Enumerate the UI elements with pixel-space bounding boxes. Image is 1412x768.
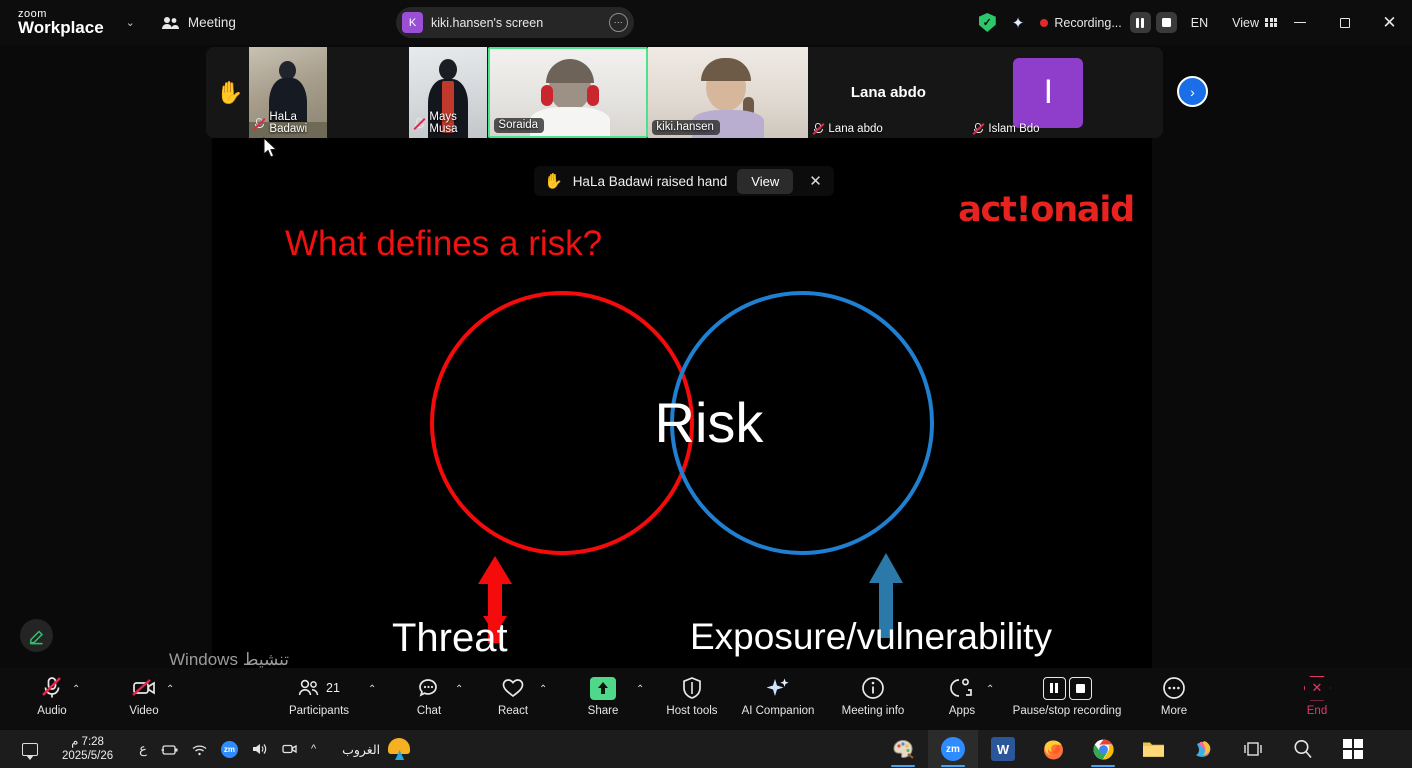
avatar-initial: I	[1013, 58, 1083, 128]
battery-icon[interactable]	[160, 743, 178, 756]
share-screen-active-icon	[590, 674, 616, 702]
weather-text: الغروب	[342, 742, 380, 757]
video-tile-lana-abdo[interactable]: Lana abdo Lana abdo	[808, 47, 968, 138]
recording-status[interactable]: Recording...	[1040, 16, 1121, 30]
participant-name: Islam Bdo	[988, 123, 1039, 135]
more-button[interactable]: More	[1141, 674, 1207, 717]
end-call-icon: ✕	[1304, 674, 1331, 702]
view-button[interactable]: View	[737, 169, 793, 194]
mic-muted-icon	[253, 117, 265, 130]
taskbar-app-file-explorer[interactable]	[1128, 730, 1178, 768]
participant-display-name: Lana abdo	[851, 84, 926, 101]
pencil-icon	[28, 627, 46, 645]
camera-icon[interactable]	[281, 742, 298, 756]
taskbar-app-copilot[interactable]	[1178, 730, 1228, 768]
more-icon	[1162, 674, 1186, 702]
participant-nametag: Mays Musa	[413, 111, 487, 135]
apps-label: Apps	[949, 705, 975, 717]
meeting-info-button[interactable]: Meeting info	[840, 674, 906, 717]
taskbar-start-button[interactable]	[1328, 730, 1378, 768]
volume-icon[interactable]	[251, 742, 268, 756]
people-icon	[298, 679, 320, 697]
meeting-tab-label: Meeting	[188, 15, 236, 30]
people-icon	[161, 16, 180, 30]
exposure-label: Exposure/vulnerability	[690, 616, 1052, 658]
stop-icon[interactable]	[1069, 677, 1092, 700]
taskbar-search-button[interactable]	[1278, 730, 1328, 768]
recording-controls	[1043, 674, 1092, 702]
pause-recording-button[interactable]	[1130, 12, 1151, 33]
recording-dot-icon	[1040, 19, 1048, 27]
zoom-meeting-window: zoom Workplace ⌄ Meeting K kiki.hansen's…	[0, 0, 1412, 768]
ime-language-indicator[interactable]: ع	[139, 741, 147, 757]
video-muted-icon	[131, 674, 157, 702]
stop-recording-button[interactable]	[1156, 12, 1177, 33]
mic-muted-icon	[972, 122, 984, 135]
mouse-cursor	[263, 137, 278, 159]
participant-nametag: Soraida	[494, 118, 544, 133]
recording-label: Recording...	[1054, 16, 1121, 30]
participant-video-strip: ✋ HaLa Badawi	[206, 47, 1163, 138]
shared-screen-content: act!onaid What defines a risk? Risk Thre…	[212, 138, 1152, 668]
sparkle-icon	[765, 674, 791, 702]
screen-share-indicator[interactable]: K kiki.hansen's screen ⋯	[396, 7, 634, 38]
chat-icon	[417, 674, 441, 702]
zoom-tray-icon[interactable]: zm	[221, 741, 238, 758]
video-options-chevron-icon[interactable]: ⌃	[166, 684, 174, 695]
wifi-icon[interactable]	[191, 743, 208, 756]
chat-label: Chat	[417, 705, 441, 717]
windows-taskbar: 7:28 م 2025/5/26 ع zm	[0, 730, 1412, 768]
video-button[interactable]: Video	[111, 674, 177, 717]
participant-name: Lana abdo	[828, 123, 882, 135]
share-label: Share	[588, 705, 619, 717]
chat-button[interactable]: Chat	[396, 674, 462, 717]
participants-icon-group: 21	[298, 674, 340, 702]
clock-date: 2025/5/26	[62, 749, 113, 763]
paint-icon	[891, 737, 916, 762]
ai-companion-label: AI Companion	[742, 705, 815, 717]
threat-label: Threat	[392, 616, 508, 661]
minimize-button[interactable]	[1277, 0, 1322, 45]
ai-companion-sparkle-icon[interactable]: ✦	[1012, 14, 1025, 32]
grid-view-icon	[1265, 18, 1277, 28]
participants-count: 21	[326, 681, 340, 695]
end-meeting-button[interactable]: ✕ End	[1284, 674, 1350, 717]
apps-options-chevron-icon[interactable]: ⌃	[986, 684, 994, 695]
pause-icon[interactable]	[1043, 677, 1066, 700]
logo-line-2: Workplace	[18, 19, 104, 36]
risk-label: Risk	[649, 390, 769, 455]
taskbar-apps: zm W	[878, 730, 1378, 768]
maximize-restore-button[interactable]	[1322, 0, 1367, 45]
react-options-chevron-icon[interactable]: ⌃	[455, 684, 463, 695]
host-tools-button[interactable]: Host tools	[659, 674, 725, 717]
zoom-icon: zm	[941, 737, 965, 761]
video-label: Video	[129, 705, 158, 717]
overflow-chevron-icon[interactable]: ^	[311, 743, 316, 755]
weather-widget[interactable]: الغروب	[342, 738, 410, 760]
more-options-icon[interactable]: ⋯	[609, 13, 628, 32]
participant-name: Soraida	[498, 119, 538, 131]
copilot-icon	[1191, 737, 1216, 762]
video-tile-hala-badawi[interactable]: HaLa Badawi	[249, 47, 327, 138]
pause-stop-recording-button[interactable]: Pause/stop recording	[1000, 674, 1134, 717]
participants-options-chevron-icon[interactable]: ⌃	[368, 684, 376, 695]
folder-icon	[1141, 738, 1166, 760]
title-bar: zoom Workplace ⌄ Meeting K kiki.hansen's…	[0, 0, 1412, 45]
participants-label: Participants	[289, 705, 349, 717]
share-title: kiki.hansen's screen	[431, 16, 609, 30]
taskbar-app-chrome[interactable]	[1078, 730, 1128, 768]
next-page-arrow-icon[interactable]: ›	[1177, 76, 1208, 107]
apps-icon	[950, 674, 974, 702]
chevron-down-icon[interactable]: ⌄	[126, 16, 135, 29]
react-button[interactable]: React	[480, 674, 546, 717]
video-tile-mays-musa[interactable]: Mays Musa	[409, 47, 487, 138]
share-button[interactable]: Share	[570, 674, 636, 717]
participant-nametag: Lana abdo	[812, 122, 882, 135]
meeting-tab[interactable]: Meeting	[161, 15, 236, 30]
shield-icon	[681, 674, 703, 702]
heart-icon	[501, 674, 525, 702]
participant-name: HaLa Badawi	[269, 111, 327, 135]
participant-nametag: kiki.hansen	[652, 120, 720, 135]
windows-logo-icon	[1343, 739, 1363, 759]
search-icon	[1292, 738, 1314, 760]
participants-button[interactable]: 21 Participants	[286, 674, 352, 717]
firefox-icon	[1041, 737, 1066, 762]
zoom-workplace-logo: zoom Workplace	[18, 9, 104, 36]
task-view-icon	[1242, 739, 1264, 759]
chrome-icon	[1091, 737, 1116, 762]
apps-button[interactable]: Apps	[929, 674, 995, 717]
audio-options-chevron-icon[interactable]: ⌃	[72, 684, 80, 695]
recording-label: Pause/stop recording	[1013, 705, 1122, 717]
avatar: K	[402, 12, 423, 33]
host-tools-label: Host tools	[666, 705, 717, 717]
raised-hand-notification: ✋ HaLa Badawi raised hand View ✕	[534, 166, 834, 196]
mic-muted-icon	[413, 117, 425, 130]
word-icon: W	[991, 737, 1015, 761]
view-selector[interactable]: View	[1232, 16, 1277, 30]
notification-message: HaLa Badawi raised hand	[573, 174, 728, 189]
clock-time: 7:28 م	[62, 735, 113, 749]
ai-companion-button[interactable]: AI Companion	[745, 674, 811, 717]
mic-muted-icon	[812, 122, 824, 135]
taskbar-app-paint[interactable]	[878, 730, 928, 768]
video-tile-kiki-hansen[interactable]: kiki.hansen	[648, 47, 808, 138]
raised-hand-icon: ✋	[544, 172, 563, 190]
chat-icon[interactable]	[22, 743, 38, 756]
taskbar-app-firefox[interactable]	[1028, 730, 1078, 768]
titlebar-right-controls: ✓ ✦ Recording... EN View	[979, 0, 1412, 45]
view-label: View	[1232, 16, 1259, 30]
language-indicator[interactable]: EN	[1191, 16, 1208, 30]
info-icon	[861, 674, 885, 702]
mic-muted-icon	[40, 674, 64, 702]
taskbar-app-zoom[interactable]: zm	[928, 730, 978, 768]
more-label: More	[1161, 705, 1187, 717]
end-label: End	[1307, 705, 1327, 717]
close-button[interactable]: ✕	[1367, 0, 1412, 45]
clock[interactable]: 7:28 م 2025/5/26	[62, 735, 113, 764]
actionaid-logo: act!onaid	[958, 190, 1134, 230]
audio-button[interactable]: Audio	[19, 674, 85, 717]
encryption-shield-icon[interactable]: ✓	[979, 13, 996, 32]
annotate-button[interactable]	[20, 619, 53, 652]
participant-nametag: Islam Bdo	[972, 122, 1039, 135]
sunset-icon	[388, 738, 410, 760]
participant-nametag: HaLa Badawi	[253, 111, 327, 135]
react-label: React	[498, 705, 528, 717]
video-tile-islam-bdo[interactable]: I Islam Bdo	[968, 47, 1128, 138]
share-options-chevron-icon[interactable]: ⌃	[636, 684, 644, 695]
system-tray: ع zm ^	[139, 741, 316, 758]
taskbar-task-view[interactable]	[1228, 730, 1278, 768]
participant-name: kiki.hansen	[656, 121, 714, 133]
participant-name: Mays Musa	[429, 111, 487, 135]
taskbar-app-word[interactable]: W	[978, 730, 1028, 768]
video-tile-soraida[interactable]: Soraida	[488, 47, 648, 138]
audio-label: Audio	[37, 705, 66, 717]
meeting-info-label: Meeting info	[842, 705, 905, 717]
meeting-toolbar: Audio ⌃ Video ⌃ 21	[0, 668, 1412, 730]
raised-hand-icon: ✋	[216, 80, 243, 106]
close-icon[interactable]: ✕	[803, 172, 828, 190]
